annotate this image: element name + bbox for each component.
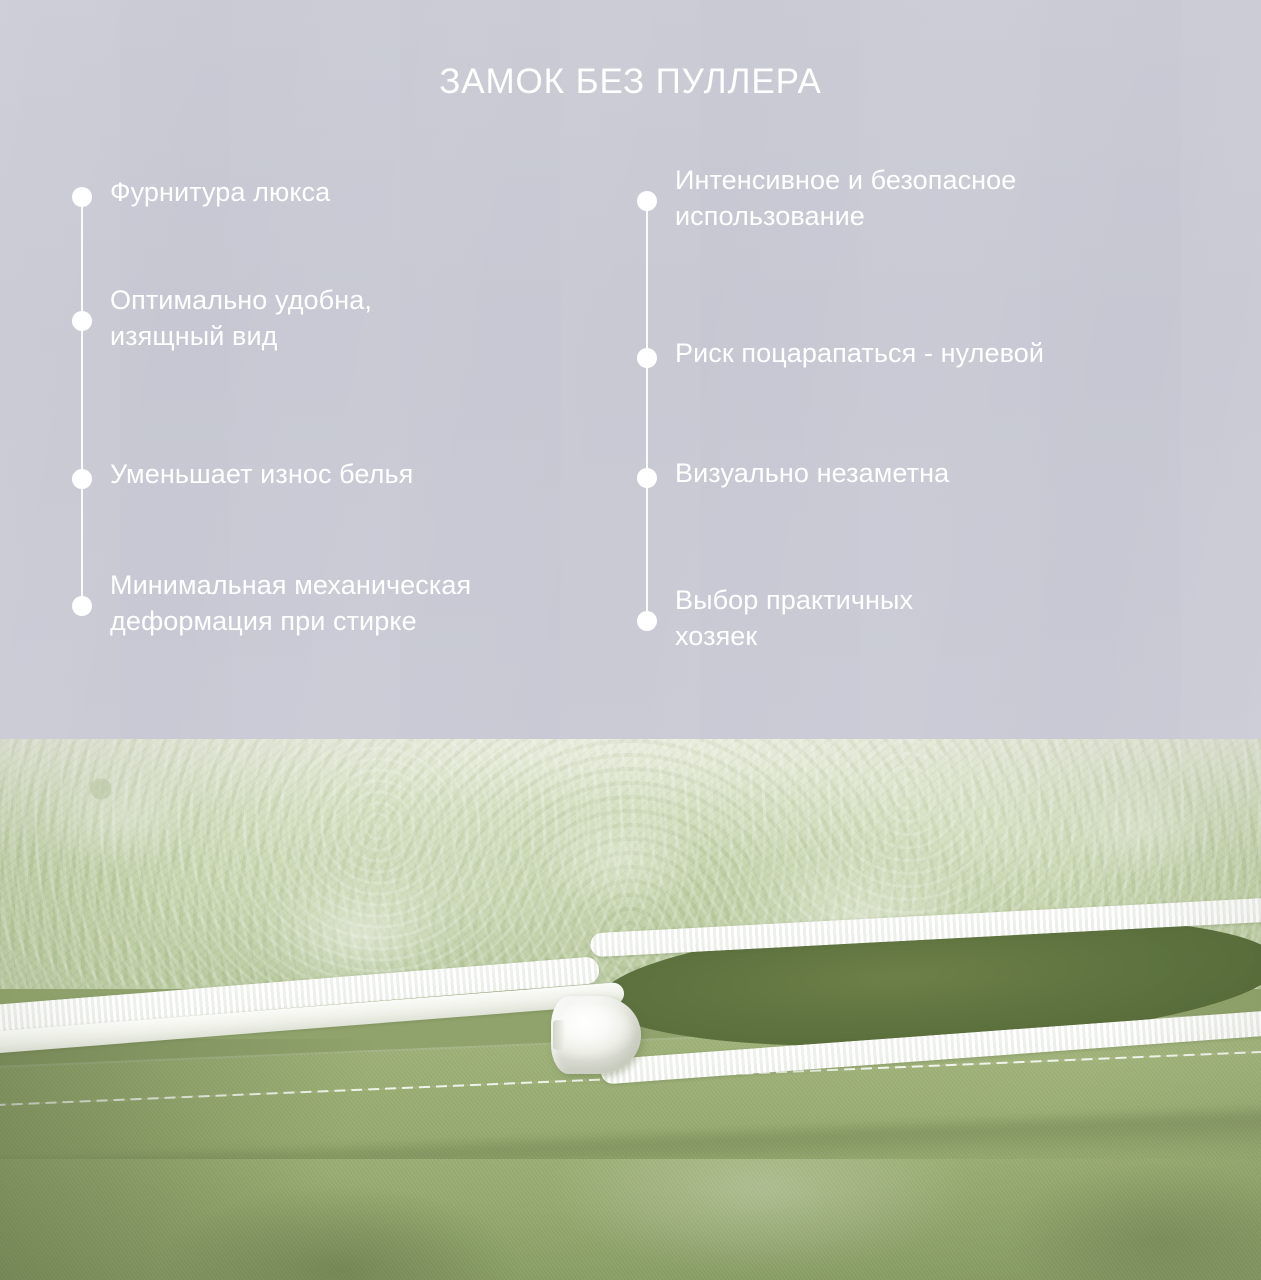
bullet-dot-icon	[637, 348, 657, 368]
infographic-page: ЗАМОК БЕЗ ПУЛЛЕРА Фурнитура люкса Оптима…	[0, 0, 1261, 1280]
info-panel: ЗАМОК БЕЗ ПУЛЛЕРА Фурнитура люкса Оптима…	[0, 0, 1261, 739]
feature-label: Фурнитура люкса	[110, 174, 330, 210]
feature-label: Оптимально удобна, изящный вид	[110, 282, 372, 354]
bullet-dot-icon	[72, 311, 92, 331]
bullet-dot-icon	[637, 191, 657, 211]
feature-label: Риск поцарапаться - нулевой	[675, 335, 1044, 371]
timeline-rail-left	[81, 197, 83, 606]
feature-label: Визуально незаметна	[675, 455, 949, 491]
feature-columns: Фурнитура люкса Оптимально удобна, изящн…	[0, 0, 1261, 739]
feature-label: Выбор практичных хозяек	[675, 582, 913, 654]
feature-label: Интенсивное и безопасное использование	[675, 162, 1016, 234]
bullet-dot-icon	[637, 468, 657, 488]
zipper-slider-icon	[551, 996, 641, 1074]
bottom-fabric-folds	[0, 1159, 1261, 1280]
feature-label: Уменьшает износ белья	[110, 456, 413, 492]
timeline-rail-right	[646, 197, 648, 621]
bullet-dot-icon	[637, 611, 657, 631]
feature-label: Минимальная механическая деформация при …	[110, 567, 471, 639]
slider-notch	[553, 1020, 566, 1050]
bullet-dot-icon	[72, 469, 92, 489]
bullet-dot-icon	[72, 187, 92, 207]
bullet-dot-icon	[72, 596, 92, 616]
